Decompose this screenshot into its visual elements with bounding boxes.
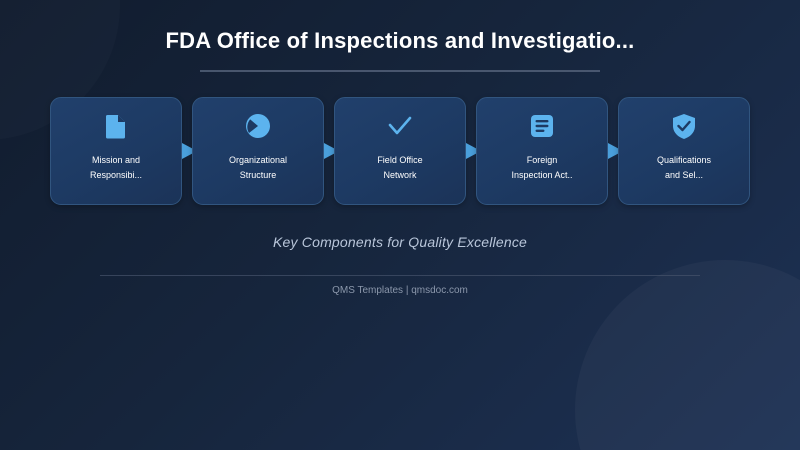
label-line-1: Qualifications [657, 155, 711, 165]
label-line-1: Field Office [377, 155, 422, 165]
flow-card-label: Organizational Structure [221, 153, 295, 183]
footer-divider [100, 275, 700, 276]
footer-attribution: QMS Templates | qmsdoc.com [0, 285, 800, 296]
title-block: FDA Office of Inspections and Investigat… [0, 28, 800, 72]
document-icon [101, 111, 131, 141]
page-title: FDA Office of Inspections and Investigat… [0, 28, 800, 54]
flow-card-qualifications[interactable]: Qualifications and Sel... [618, 97, 750, 205]
title-divider [200, 70, 600, 72]
checkmark-icon [385, 111, 415, 141]
pie-chart-icon [243, 111, 273, 141]
label-line-1: Mission and [92, 155, 140, 165]
label-line-2: Inspection Act.. [511, 170, 572, 180]
flow-card-foreign-inspection[interactable]: Foreign Inspection Act.. [476, 97, 608, 205]
slide-canvas: FDA Office of Inspections and Investigat… [0, 0, 800, 450]
shield-check-icon [669, 111, 699, 141]
flow-card-field-office-network[interactable]: Field Office Network [334, 97, 466, 205]
process-flow-row: Mission and Responsibi... Organizational… [50, 97, 750, 205]
flow-card-label: Qualifications and Sel... [649, 153, 719, 183]
subtitle-text: Key Components for Quality Excellence [0, 234, 800, 250]
footer-block: QMS Templates | qmsdoc.com [0, 285, 800, 296]
flow-card-label: Field Office Network [369, 153, 430, 183]
label-line-2: Structure [240, 170, 277, 180]
list-lines-icon [527, 111, 557, 141]
label-line-2: Responsibi... [90, 170, 142, 180]
flow-card-label: Foreign Inspection Act.. [503, 153, 580, 183]
subtitle-block: Key Components for Quality Excellence [0, 234, 800, 276]
flow-card-organizational-structure[interactable]: Organizational Structure [192, 97, 324, 205]
label-line-1: Organizational [229, 155, 287, 165]
flow-card-label: Mission and Responsibi... [82, 153, 150, 183]
label-line-2: and Sel... [665, 170, 703, 180]
label-line-1: Foreign [527, 155, 558, 165]
flow-card-mission[interactable]: Mission and Responsibi... [50, 97, 182, 205]
label-line-2: Network [383, 170, 416, 180]
